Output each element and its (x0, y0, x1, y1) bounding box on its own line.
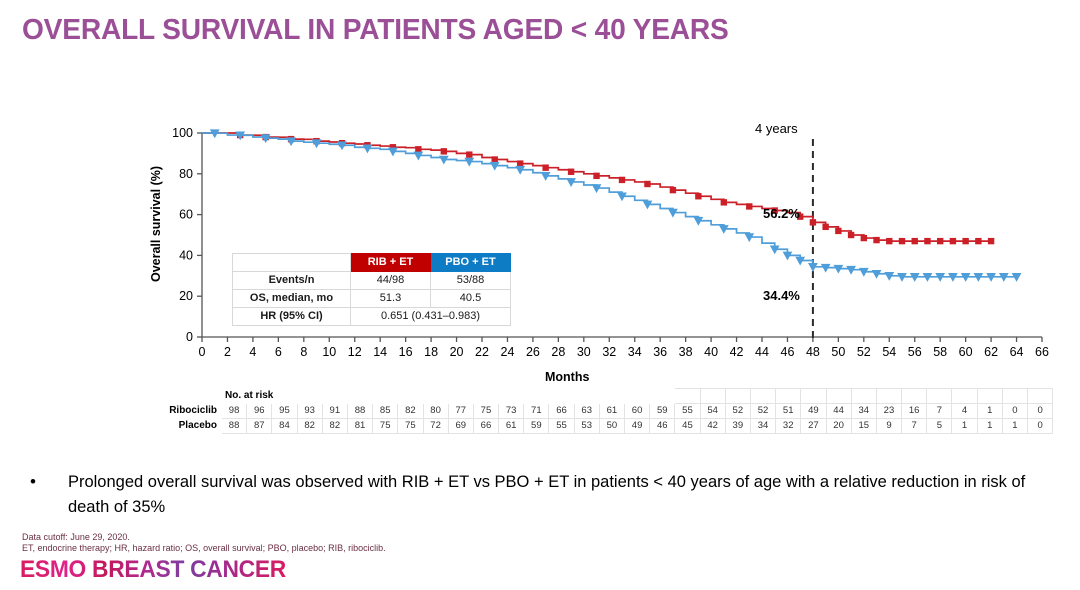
x-tick-label: 28 (551, 345, 565, 359)
risk-title-empty-cell (876, 389, 901, 404)
risk-value-cell: 82 (297, 419, 322, 434)
rib-rate-annotation: 56.2% (763, 206, 800, 221)
censor-mark-rib (924, 238, 930, 244)
risk-value-cell: 95 (272, 404, 297, 419)
key-finding-bullet: • Prolonged overall survival was observe… (30, 470, 1060, 520)
stats-cell-rib: 44/98 (351, 272, 431, 290)
page-title: OVERALL SURVIVAL IN PATIENTS AGED < 40 Y… (22, 14, 729, 47)
risk-value-cell: 15 (851, 419, 876, 434)
risk-value-cell: 85 (373, 404, 398, 419)
censor-mark-rib (988, 238, 994, 244)
risk-value-cell: 1 (1002, 419, 1027, 434)
risk-value-cell: 20 (826, 419, 851, 434)
risk-value-cell: 23 (876, 404, 901, 419)
risk-value-cell: 75 (473, 404, 498, 419)
risk-title-empty-cell (851, 389, 876, 404)
risk-value-cell: 84 (272, 419, 297, 434)
risk-value-cell: 32 (776, 419, 801, 434)
censor-mark-rib (937, 238, 943, 244)
y-tick-label: 80 (179, 167, 193, 181)
risk-value-cell: 1 (977, 404, 1002, 419)
risk-table-row: Placebo888784828281757572696661595553504… (162, 419, 1053, 434)
x-tick-label: 54 (882, 345, 896, 359)
stats-table-rib-header: RIB + ET (351, 254, 431, 272)
risk-value-cell: 34 (750, 419, 775, 434)
x-tick-label: 50 (831, 345, 845, 359)
censor-mark-rib (886, 238, 892, 244)
censor-mark-rib (962, 238, 968, 244)
risk-row-label: Placebo (162, 419, 222, 434)
y-axis-label: Overall survival (%) (149, 124, 163, 324)
risk-value-cell: 87 (247, 419, 272, 434)
censor-mark-rib (950, 238, 956, 244)
censor-mark-rib (517, 160, 523, 166)
risk-value-cell: 82 (398, 404, 423, 419)
risk-value-cell: 1 (952, 419, 977, 434)
x-tick-label: 12 (348, 345, 362, 359)
risk-value-cell: 27 (801, 419, 826, 434)
x-tick-label: 8 (300, 345, 307, 359)
y-tick-label: 60 (179, 208, 193, 222)
censor-mark-rib (975, 238, 981, 244)
stats-table-blank-header (233, 254, 351, 272)
risk-title-empty-cell (977, 389, 1002, 404)
risk-value-cell: 81 (347, 419, 372, 434)
x-tick-label: 10 (322, 345, 336, 359)
stats-table-pbo-header: PBO + ET (431, 254, 511, 272)
x-tick-label: 64 (1010, 345, 1024, 359)
risk-value-cell: 44 (826, 404, 851, 419)
x-tick-label: 60 (959, 345, 973, 359)
risk-value-cell: 55 (549, 419, 574, 434)
number-at-risk-table: No. at risk Ribociclib989695939188858280… (161, 388, 1053, 434)
x-tick-label: 52 (857, 345, 871, 359)
footnote-data-cutoff: Data cutoff: June 29, 2020. (22, 532, 130, 543)
risk-value-cell: 54 (700, 404, 725, 419)
censor-mark-rib (441, 148, 447, 154)
risk-value-cell: 88 (347, 404, 372, 419)
risk-value-cell: 71 (524, 404, 549, 419)
risk-value-cell: 4 (952, 404, 977, 419)
risk-title-empty-cell (1028, 389, 1053, 404)
risk-table-title-row: No. at risk (162, 389, 1053, 404)
x-tick-label: 38 (679, 345, 693, 359)
risk-value-cell: 39 (725, 419, 750, 434)
x-tick-label: 56 (908, 345, 922, 359)
stats-table-row: OS, median, mo51.340.5 (233, 290, 511, 308)
survival-chart: 0204060801000246810121416182022242628303… (150, 125, 1060, 385)
censor-mark-rib (899, 238, 905, 244)
censor-mark-rib (542, 164, 548, 170)
risk-value-cell: 80 (423, 404, 448, 419)
x-tick-label: 16 (399, 345, 413, 359)
censor-mark-rib (568, 169, 574, 175)
risk-title-empty-cell (750, 389, 775, 404)
censor-mark-rib (695, 193, 701, 199)
y-tick-label: 100 (172, 126, 193, 140)
risk-value-cell: 69 (448, 419, 473, 434)
risk-value-cell: 91 (322, 404, 347, 419)
risk-value-cell: 52 (750, 404, 775, 419)
censor-mark-rib (822, 224, 828, 230)
stats-cell-label: Events/n (233, 272, 351, 290)
bullet-marker: • (30, 470, 36, 520)
risk-value-cell: 63 (574, 404, 599, 419)
stats-cell-rib: 51.3 (351, 290, 431, 308)
pbo-rate-annotation: 34.4% (763, 288, 800, 303)
x-tick-label: 48 (806, 345, 820, 359)
x-tick-label: 36 (653, 345, 667, 359)
risk-value-cell: 73 (499, 404, 524, 419)
risk-value-cell: 72 (423, 419, 448, 434)
bullet-text: Prolonged overall survival was observed … (68, 470, 1028, 520)
x-tick-label: 62 (984, 345, 998, 359)
risk-value-cell: 16 (902, 404, 927, 419)
risk-title-spacer (162, 389, 222, 404)
risk-value-cell: 93 (297, 404, 322, 419)
censor-mark-rib (912, 238, 918, 244)
risk-title-empty-cell (700, 389, 725, 404)
stats-table-header-row: RIB + ET PBO + ET (233, 254, 511, 272)
x-tick-label: 30 (577, 345, 591, 359)
risk-row-label: Ribociclib (162, 404, 222, 419)
censor-mark-rib (466, 151, 472, 157)
censor-mark-rib (721, 199, 727, 205)
risk-value-cell: 5 (927, 419, 952, 434)
risk-value-cell: 59 (524, 419, 549, 434)
stats-hr-value: 0.651 (0.431–0.983) (351, 308, 511, 326)
risk-value-cell: 52 (725, 404, 750, 419)
censor-mark-rib (670, 187, 676, 193)
x-tick-label: 20 (450, 345, 464, 359)
risk-value-cell: 88 (222, 419, 247, 434)
x-tick-label: 58 (933, 345, 947, 359)
risk-title-empty-cell (902, 389, 927, 404)
stats-table: RIB + ET PBO + ET Events/n44/9853/88OS, … (232, 253, 511, 326)
risk-value-cell: 61 (599, 404, 624, 419)
y-tick-label: 20 (179, 289, 193, 303)
x-tick-label: 18 (424, 345, 438, 359)
risk-value-cell: 66 (549, 404, 574, 419)
censor-mark-rib (835, 228, 841, 234)
x-tick-label: 22 (475, 345, 489, 359)
x-tick-label: 46 (781, 345, 795, 359)
milestone-annotation: 4 years (755, 121, 798, 136)
censor-mark-rib (848, 232, 854, 238)
risk-title-empty-cell (1002, 389, 1027, 404)
x-tick-label: 26 (526, 345, 540, 359)
risk-value-cell: 98 (222, 404, 247, 419)
risk-title-empty-cell (725, 389, 750, 404)
risk-value-cell: 55 (675, 404, 700, 419)
slide-root: OVERALL SURVIVAL IN PATIENTS AGED < 40 Y… (0, 0, 1080, 590)
risk-title-empty-cell (776, 389, 801, 404)
x-tick-label: 14 (373, 345, 387, 359)
x-tick-label: 6 (275, 345, 282, 359)
risk-value-cell: 59 (650, 404, 675, 419)
risk-value-cell: 49 (625, 419, 650, 434)
risk-value-cell: 60 (625, 404, 650, 419)
x-axis-label: Months (545, 370, 589, 384)
risk-value-cell: 51 (776, 404, 801, 419)
stats-cell-pbo: 40.5 (431, 290, 511, 308)
risk-value-cell: 34 (851, 404, 876, 419)
risk-value-cell: 53 (574, 419, 599, 434)
x-tick-label: 34 (628, 345, 642, 359)
risk-title-empty-cell (801, 389, 826, 404)
risk-value-cell: 49 (801, 404, 826, 419)
risk-title-empty-cell (927, 389, 952, 404)
censor-mark-rib (492, 156, 498, 162)
x-tick-label: 2 (224, 345, 231, 359)
stats-cell-pbo: 53/88 (431, 272, 511, 290)
risk-value-cell: 50 (599, 419, 624, 434)
censor-mark-rib (746, 203, 752, 209)
risk-value-cell: 96 (247, 404, 272, 419)
risk-value-cell: 77 (448, 404, 473, 419)
x-tick-label: 66 (1035, 345, 1049, 359)
stats-table-row: Events/n44/9853/88 (233, 272, 511, 290)
censor-mark-rib (644, 181, 650, 187)
stats-hr-label: HR (95% CI) (233, 308, 351, 326)
risk-value-cell: 66 (473, 419, 498, 434)
x-tick-label: 44 (755, 345, 769, 359)
footnote-abbreviations: ET, endocrine therapy; HR, hazard ratio;… (22, 543, 386, 554)
censor-mark-rib (619, 177, 625, 183)
censor-mark-rib (861, 235, 867, 241)
risk-value-cell: 1 (977, 419, 1002, 434)
risk-value-cell: 42 (700, 419, 725, 434)
risk-title-empty-cell (826, 389, 851, 404)
risk-value-cell: 0 (1002, 404, 1027, 419)
risk-value-cell: 7 (927, 404, 952, 419)
x-tick-label: 32 (602, 345, 616, 359)
stats-table-hr-row: HR (95% CI)0.651 (0.431–0.983) (233, 308, 511, 326)
x-tick-label: 40 (704, 345, 718, 359)
x-tick-label: 0 (199, 345, 206, 359)
x-tick-label: 42 (730, 345, 744, 359)
x-tick-label: 4 (249, 345, 256, 359)
risk-table-wrap: No. at risk Ribociclib989695939188858280… (161, 388, 1053, 434)
censor-mark-rib (810, 219, 816, 225)
risk-title-empty-cell (952, 389, 977, 404)
y-tick-label: 40 (179, 248, 193, 262)
risk-value-cell: 82 (322, 419, 347, 434)
risk-value-cell: 75 (398, 419, 423, 434)
risk-title-empty-cell (675, 389, 700, 404)
risk-value-cell: 0 (1028, 419, 1053, 434)
x-tick-label: 24 (501, 345, 515, 359)
risk-value-cell: 75 (373, 419, 398, 434)
censor-mark-rib (593, 173, 599, 179)
risk-value-cell: 0 (1028, 404, 1053, 419)
risk-value-cell: 9 (876, 419, 901, 434)
risk-table-title: No. at risk (222, 389, 675, 404)
risk-value-cell: 7 (902, 419, 927, 434)
esmo-logo: ESMO BREAST CANCER (20, 556, 286, 584)
risk-value-cell: 46 (650, 419, 675, 434)
y-tick-label: 0 (186, 330, 193, 344)
risk-table-row: Ribociclib989695939188858280777573716663… (162, 404, 1053, 419)
risk-value-cell: 45 (675, 419, 700, 434)
risk-value-cell: 61 (499, 419, 524, 434)
censor-mark-rib (873, 237, 879, 243)
kaplan-meier-plot: 0204060801000246810121416182022242628303… (150, 125, 1060, 370)
censor-mark-rib (415, 146, 421, 152)
stats-cell-label: OS, median, mo (233, 290, 351, 308)
